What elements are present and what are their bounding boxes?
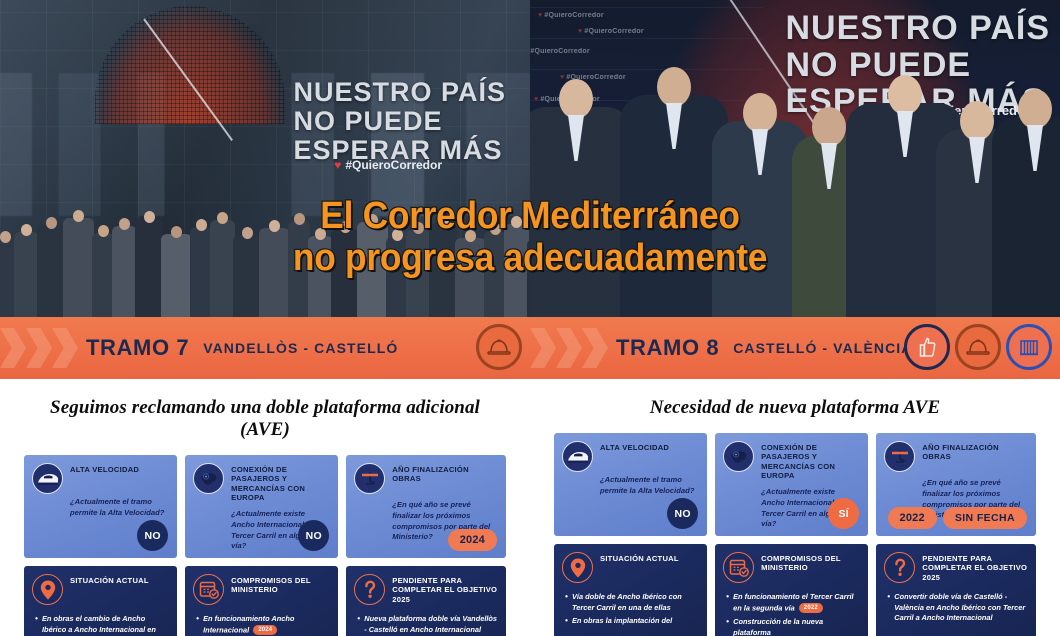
card-title: ALTA VELOCIDAD bbox=[70, 463, 139, 474]
card-bullet-list: Vía doble de Ancho Ibérico con Tercer Ca… bbox=[562, 592, 699, 627]
hashtag-left: #QuieroCorredor bbox=[334, 158, 442, 172]
card-question: ¿Actualmente el tramo permite la Alta Ve… bbox=[70, 497, 169, 519]
card-header: COMPROMISOS DEL MINISTERIO bbox=[193, 574, 330, 605]
crowd-figure bbox=[504, 224, 529, 317]
card-bullet-list: En obras el cambio de Ancho Ibérico a An… bbox=[32, 614, 169, 636]
crowd-figure-head bbox=[196, 219, 207, 231]
slogan-line-2: No Puede bbox=[293, 107, 506, 136]
card-answer-group: NO bbox=[298, 520, 329, 551]
calendar-deadline-icon bbox=[884, 441, 915, 472]
question-mark-icon bbox=[884, 552, 915, 583]
answer-no-date-pill: SIN FECHA bbox=[943, 507, 1027, 529]
card-title: COMPROMISOS DEL MINISTERIO bbox=[761, 552, 860, 573]
card-bullet: En funcionamiento Ancho Internacional 20… bbox=[196, 614, 330, 636]
card-header: AÑO FINALIZACIÓN OBRAS bbox=[884, 441, 1028, 472]
official-figure bbox=[530, 107, 632, 317]
wall-hashtag: #QuieroCorredor bbox=[530, 48, 590, 55]
crowd-figure-head bbox=[413, 222, 424, 234]
official-figure-head bbox=[559, 79, 593, 119]
card-title: SITUACIÓN ACTUAL bbox=[70, 574, 149, 585]
tramo-8-route: CASTELLÓ - VALÈNCIA bbox=[733, 340, 912, 356]
card-answer-group: NO bbox=[667, 498, 698, 529]
crowd-figure bbox=[331, 229, 359, 317]
crowd-figure-head bbox=[217, 212, 228, 224]
panel-8-top-cards: ALTA VELOCIDAD¿Actualmente el tramo perm… bbox=[554, 433, 1036, 536]
card-a-o-finalizaci-n-obras: AÑO FINALIZACIÓN OBRAS¿En qué año se pre… bbox=[876, 433, 1036, 536]
crowd-figure bbox=[357, 222, 388, 317]
infographic-page: Nuestro País No Puede Esperar Más #Quier… bbox=[0, 0, 1060, 636]
tramo-banner-bar: TRAMO 7 VANDELLÒS - CASTELLÓ TRAMO 8 bbox=[0, 317, 1060, 379]
panel-7-bottom-cards: SITUACIÓN ACTUALEn obras el cambio de An… bbox=[24, 566, 506, 636]
crowd-figure-head bbox=[242, 227, 253, 239]
bullet-year-chip: 2024 bbox=[253, 625, 277, 636]
crowd-figure-head bbox=[46, 217, 57, 229]
card-compromisos-del-ministerio: COMPROMISOS DEL MINISTERIOEn funcionamie… bbox=[185, 566, 338, 636]
crowd-figure-head bbox=[171, 226, 182, 238]
crowd-figure bbox=[455, 238, 486, 317]
tramo-7-title: TRAMO 7 bbox=[86, 335, 189, 361]
crowd-figure-head bbox=[465, 230, 476, 242]
calendar-check-icon bbox=[193, 574, 224, 605]
officials-group bbox=[530, 76, 1060, 317]
card-header: ALTA VELOCIDAD bbox=[562, 441, 699, 472]
card-title: CONEXIÓN DE PASAJEROS Y MERCANCÍAS CON E… bbox=[231, 463, 330, 503]
crowd-figure-head bbox=[511, 216, 522, 228]
card-pendiente-para-completar-el-objetivo-2025: PENDIENTE PARA COMPLETAR EL OBJETIVO 202… bbox=[876, 544, 1036, 636]
panel-8-heading: Necesidad de nueva plataforma AVE bbox=[554, 379, 1036, 433]
card-a-o-finalizaci-n-obras: AÑO FINALIZACIÓN OBRAS¿En qué año se pre… bbox=[346, 455, 506, 558]
crowd-figure bbox=[429, 223, 457, 317]
wall-hashtag: #QuieroCorredor bbox=[578, 28, 644, 35]
crowd-figure-head bbox=[294, 213, 305, 225]
crowd-figure-head bbox=[340, 221, 351, 233]
crowd-left bbox=[0, 171, 530, 317]
slogan-line-1: Nuestro País bbox=[293, 78, 506, 107]
card-answer-group: NO bbox=[137, 520, 168, 551]
card-title: SITUACIÓN ACTUAL bbox=[600, 552, 679, 563]
crowd-figure bbox=[135, 219, 163, 317]
crowd-figure-head bbox=[73, 210, 84, 222]
crowd-figure bbox=[386, 237, 408, 317]
card-conexi-n-de-pasajeros-y-mercanc-as-con-europa: CONEXIÓN DE PASAJEROS Y MERCANCÍAS CON E… bbox=[185, 455, 338, 558]
tramo-7-badges bbox=[476, 324, 522, 370]
card-header: SITUACIÓN ACTUAL bbox=[32, 574, 169, 605]
crowd-figure-head bbox=[21, 224, 32, 236]
card-bullet: Nueva plataforma doble vía Vandellòs - C… bbox=[357, 614, 498, 636]
card-header: PENDIENTE PARA COMPLETAR EL OBJETIVO 202… bbox=[354, 574, 498, 605]
card-header: ALTA VELOCIDAD bbox=[32, 463, 169, 494]
card-bullet-list: En funcionamiento el Tercer Carril en la… bbox=[723, 592, 860, 636]
card-answer-group: 2024 bbox=[448, 529, 497, 551]
card-bullet-list: Nueva plataforma doble vía Vandellòs - C… bbox=[354, 614, 498, 636]
card-header: AÑO FINALIZACIÓN OBRAS bbox=[354, 463, 498, 494]
badge-en-funcionamiento[interactable] bbox=[904, 324, 950, 370]
card-title: PENDIENTE PARA COMPLETAR EL OBJETIVO 202… bbox=[392, 574, 498, 604]
card-header: COMPROMISOS DEL MINISTERIO bbox=[723, 552, 860, 583]
card-bullet: En obras la implantación del bbox=[565, 616, 699, 627]
crowd-figure bbox=[14, 232, 39, 317]
card-pendiente-para-completar-el-objetivo-2025: PENDIENTE PARA COMPLETAR EL OBJETIVO 202… bbox=[346, 566, 506, 636]
tramo-8-badges bbox=[904, 324, 1052, 370]
crowd-figure-head bbox=[490, 223, 501, 235]
crowd-figure bbox=[63, 218, 94, 317]
card-bullet-list: En funcionamiento Ancho Internacional 20… bbox=[193, 614, 330, 636]
high-speed-train-icon bbox=[562, 441, 593, 472]
crowd-figure bbox=[484, 231, 506, 317]
badge-en-obras[interactable] bbox=[955, 324, 1001, 370]
official-figure-head bbox=[888, 75, 922, 115]
crowd-figure bbox=[112, 226, 137, 317]
card-situaci-n-actual: SITUACIÓN ACTUALEn obras el cambio de An… bbox=[24, 566, 177, 636]
high-speed-train-icon bbox=[32, 463, 63, 494]
crowd-figure bbox=[210, 220, 235, 317]
panel-tramo-7: Seguimos reclamando una doble plataforma… bbox=[0, 379, 530, 636]
card-title: ALTA VELOCIDAD bbox=[600, 441, 669, 452]
crowd-figure-head bbox=[315, 228, 326, 240]
answer-badge: SÍ bbox=[828, 498, 859, 529]
card-answer-group: SÍ bbox=[828, 498, 859, 529]
backdrop-slogan-left: Nuestro País No Puede Esperar Más bbox=[293, 78, 506, 165]
crowd-figure-head bbox=[119, 218, 130, 230]
card-question: ¿Actualmente el tramo permite la Alta Ve… bbox=[600, 475, 699, 497]
photo-strip: Nuestro País No Puede Esperar Más #Quier… bbox=[0, 0, 1060, 317]
card-bullet-list: Convertir doble vía de Castelló - Valènc… bbox=[884, 592, 1028, 624]
crowd-figure bbox=[161, 234, 192, 317]
card-compromisos-del-ministerio: COMPROMISOS DEL MINISTERIOEn funcionamie… bbox=[715, 544, 868, 636]
photo-left-group: Nuestro País No Puede Esperar Más #Quier… bbox=[0, 0, 530, 317]
crowd-figure bbox=[308, 236, 333, 317]
card-header: CONEXIÓN DE PASAJEROS Y MERCANCÍAS CON E… bbox=[193, 463, 330, 503]
card-header: SITUACIÓN ACTUAL bbox=[562, 552, 699, 583]
card-bullet: Construcción de la nueva plataforma bbox=[726, 617, 860, 636]
card-title: CONEXIÓN DE PASAJEROS Y MERCANCÍAS CON E… bbox=[761, 441, 860, 481]
official-figure-head bbox=[960, 101, 994, 141]
crowd-figure bbox=[259, 228, 290, 317]
card-bullet: En obras el cambio de Ancho Ibérico a An… bbox=[35, 614, 169, 636]
official-figure bbox=[992, 117, 1060, 317]
crowd-figure-head bbox=[269, 220, 280, 232]
crowd-figure-head bbox=[367, 214, 378, 226]
crowd-figure-head bbox=[98, 225, 109, 237]
official-figure-head bbox=[657, 67, 691, 107]
card-title: AÑO FINALIZACIÓN OBRAS bbox=[922, 441, 1028, 462]
card-situaci-n-actual: SITUACIÓN ACTUALVía doble de Ancho Ibéri… bbox=[554, 544, 707, 636]
badge-en-proyecto[interactable] bbox=[1006, 324, 1052, 370]
card-bullet: Vía doble de Ancho Ibérico con Tercer Ca… bbox=[565, 592, 699, 613]
slogan-line-1: Nuestro País bbox=[785, 10, 1050, 47]
crowd-figure-head bbox=[392, 229, 403, 241]
card-alta-velocidad: ALTA VELOCIDAD¿Actualmente el tramo perm… bbox=[24, 455, 177, 558]
card-title: AÑO FINALIZACIÓN OBRAS bbox=[392, 463, 498, 484]
answer-badge: NO bbox=[298, 520, 329, 551]
crowd-figure bbox=[190, 227, 212, 317]
panel-8-bottom-cards: SITUACIÓN ACTUALVía doble de Ancho Ibéri… bbox=[554, 544, 1036, 636]
panel-7-top-cards: ALTA VELOCIDAD¿Actualmente el tramo perm… bbox=[24, 455, 506, 558]
card-answer-group: 2022SIN FECHA bbox=[888, 507, 1027, 529]
official-figure-head bbox=[1018, 89, 1052, 129]
card-alta-velocidad: ALTA VELOCIDAD¿Actualmente el tramo perm… bbox=[554, 433, 707, 536]
wall-hashtag: #QuieroCorredor bbox=[538, 12, 604, 19]
answer-badge: NO bbox=[667, 498, 698, 529]
europe-map-icon bbox=[723, 441, 754, 472]
crowd-figure-head bbox=[438, 215, 449, 227]
banner-tramo-8: TRAMO 8 CASTELLÓ - VALÈNCIA bbox=[530, 317, 1060, 379]
crowd-figure bbox=[92, 233, 114, 317]
tramo-8-title: TRAMO 8 bbox=[616, 335, 719, 361]
crowd-figure-head bbox=[144, 211, 155, 223]
crowd-figure bbox=[288, 221, 310, 317]
card-title: PENDIENTE PARA COMPLETAR EL OBJETIVO 202… bbox=[922, 552, 1028, 582]
answer-year-pill: 2022 bbox=[888, 507, 937, 529]
question-mark-icon bbox=[354, 574, 385, 605]
europe-map-icon bbox=[193, 463, 224, 494]
tramo-7-route: VANDELLÒS - CASTELLÓ bbox=[203, 340, 398, 356]
crowd-figure-head bbox=[0, 231, 11, 243]
card-bullet: Convertir doble vía de Castelló - Valènc… bbox=[887, 592, 1028, 624]
card-conexi-n-de-pasajeros-y-mercanc-as-con-europa: CONEXIÓN DE PASAJEROS Y MERCANCÍAS CON E… bbox=[715, 433, 868, 536]
panel-7-heading: Seguimos reclamando una doble plataforma… bbox=[24, 379, 506, 455]
official-figure-head bbox=[812, 107, 846, 147]
card-bullet: En funcionamiento el Tercer Carril en la… bbox=[726, 592, 860, 614]
crowd-figure bbox=[233, 235, 261, 317]
official-figure-head bbox=[743, 93, 777, 133]
crowd-figure bbox=[37, 225, 65, 317]
bullet-year-chip: 2022 bbox=[799, 603, 823, 614]
photo-right-group: #QuieroCorredor#QuieroCorredor#QuieroCor… bbox=[530, 0, 1060, 317]
card-header: PENDIENTE PARA COMPLETAR EL OBJETIVO 202… bbox=[884, 552, 1028, 583]
location-pin-icon bbox=[32, 574, 63, 605]
card-title: COMPROMISOS DEL MINISTERIO bbox=[231, 574, 330, 595]
panels-area: Seguimos reclamando una doble plataforma… bbox=[0, 379, 1060, 636]
panel-tramo-8: Necesidad de nueva plataforma AVE ALTA V… bbox=[530, 379, 1060, 636]
calendar-deadline-icon bbox=[354, 463, 385, 494]
answer-year-pill: 2024 bbox=[448, 529, 497, 551]
answer-badge: NO bbox=[137, 520, 168, 551]
calendar-check-icon bbox=[723, 552, 754, 583]
crowd-figure bbox=[406, 230, 431, 317]
banner-tramo-7: TRAMO 7 VANDELLÒS - CASTELLÓ bbox=[0, 317, 530, 379]
badge-en-obras[interactable] bbox=[476, 324, 522, 370]
location-pin-icon bbox=[562, 552, 593, 583]
card-header: CONEXIÓN DE PASAJEROS Y MERCANCÍAS CON E… bbox=[723, 441, 860, 481]
